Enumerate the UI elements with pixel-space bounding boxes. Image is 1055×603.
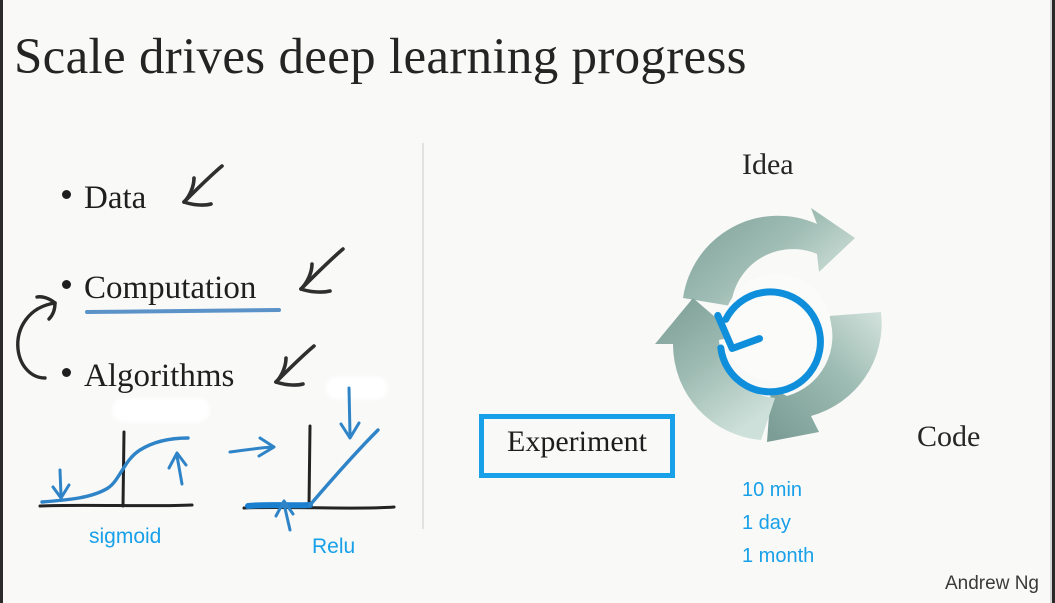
iteration-time-1-month: 1 month [742, 545, 814, 568]
status-badge-experiment[interactable]: Experiment [479, 414, 675, 478]
list-item-algorithms: Algorithms [62, 358, 234, 395]
relu-sketch-icon [228, 384, 408, 532]
whiteout-smudge [326, 377, 388, 399]
column-divider [422, 143, 424, 529]
cycle-label-code: Code [917, 420, 980, 454]
list-item-label: Data [84, 180, 146, 216]
idea-code-experiment-cycle-diagram [641, 192, 913, 464]
list-item-label: Algorithms [84, 358, 234, 394]
sketch-label-relu: Relu [312, 535, 355, 559]
list-item-computation: Computation [62, 270, 256, 307]
sigmoid-sketch-icon [32, 412, 212, 524]
cycle-arrows-icon [641, 192, 913, 464]
sketch-label-sigmoid: sigmoid [89, 525, 161, 549]
page-title: Scale drives deep learning progress [14, 26, 747, 88]
list-item-data: Data [62, 180, 146, 217]
attribution-label: Andrew Ng [945, 573, 1039, 595]
iteration-time-1-day: 1 day [742, 512, 791, 535]
computation-underline-annotation [85, 308, 281, 314]
bullet-dot-icon [62, 190, 71, 199]
bullet-dot-icon [62, 280, 71, 289]
list-item-label: Computation [84, 270, 256, 306]
handdrawn-arrow-to-data-icon [158, 160, 230, 218]
whiteout-smudge [112, 398, 210, 422]
cycle-label-idea: Idea [742, 148, 794, 182]
bullet-dot-icon [62, 368, 71, 377]
slide-canvas: Scale drives deep learning progress Data… [0, 0, 1055, 603]
cycle-label-experiment: Experiment [484, 425, 670, 459]
slide-border-left [0, 0, 3, 603]
iteration-time-10-min: 10 min [742, 479, 802, 502]
handdrawn-arrow-to-algorithms-icon [250, 340, 322, 398]
handdrawn-arrow-to-computation-icon [273, 243, 351, 305]
